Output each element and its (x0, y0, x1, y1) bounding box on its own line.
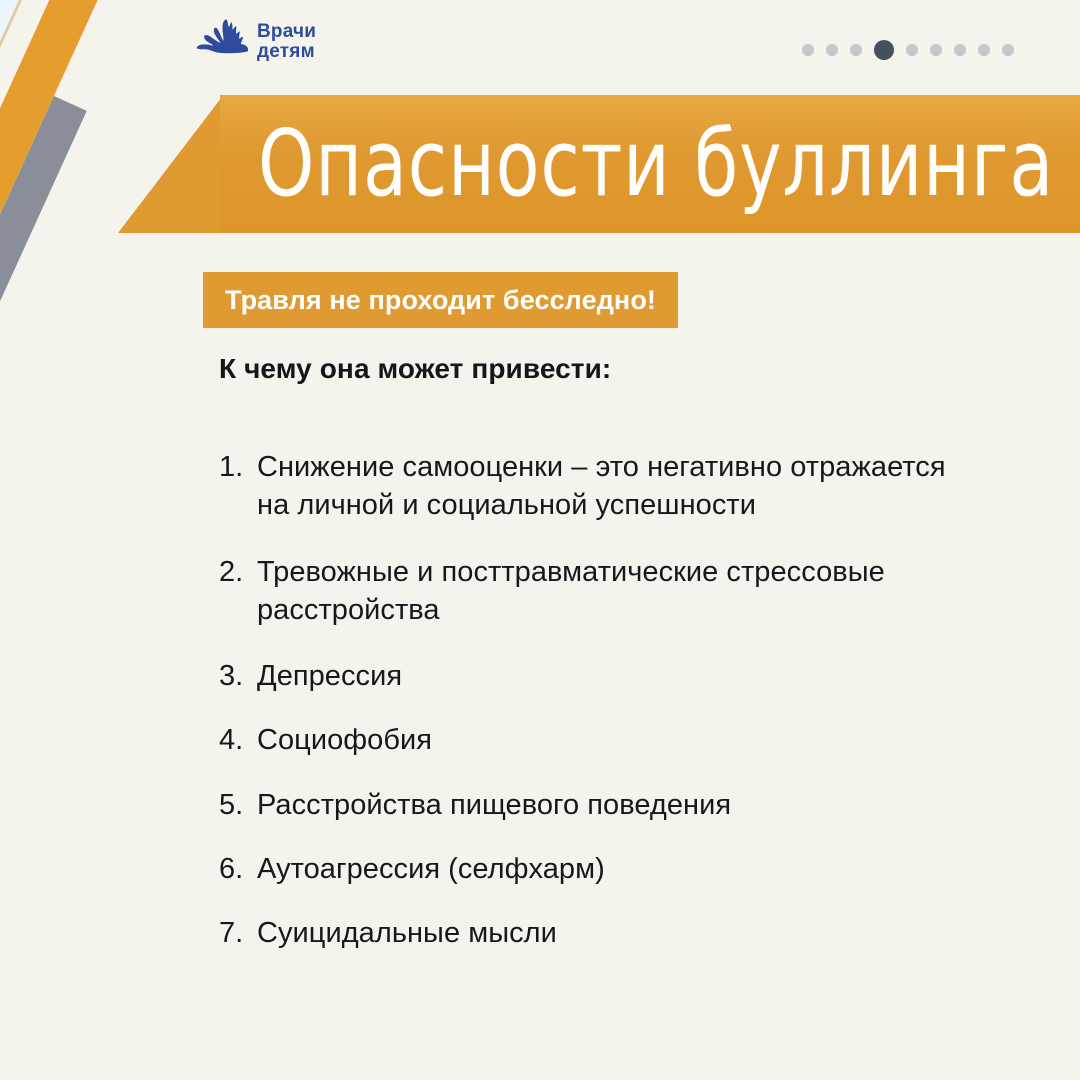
consequences-list: 1. Снижение самооценки – это негативно о… (219, 448, 979, 978)
pagination-dot-3[interactable] (850, 44, 862, 56)
pagination-dot-5[interactable] (906, 44, 918, 56)
list-item: 6. Аутоагрессия (селфхарм) (219, 850, 979, 888)
list-item-text: Депрессия (257, 657, 979, 695)
pagination-dot-2[interactable] (826, 44, 838, 56)
pagination-dot-4-active[interactable] (874, 40, 894, 60)
pagination-dot-1[interactable] (802, 44, 814, 56)
pagination-dot-7[interactable] (954, 44, 966, 56)
list-item-text: Суицидальные мысли (257, 914, 979, 952)
brand-logo: Врачи детям (196, 18, 316, 66)
intro-heading: К чему она может привести: (219, 353, 611, 385)
diagonal-grey-stripe (0, 96, 87, 327)
pagination-dot-6[interactable] (930, 44, 942, 56)
list-item-number: 7. (219, 914, 257, 952)
header: Врачи детям (0, 0, 1080, 92)
subtitle-banner: Травля не проходит бесследно! (203, 272, 678, 328)
list-item: 4. Социофобия (219, 721, 979, 759)
list-item-number: 6. (219, 850, 257, 888)
list-item-text: Расстройства пищевого поведения (257, 786, 979, 824)
list-item-text: Социофобия (257, 721, 979, 759)
list-item: 5. Расстройства пищевого поведения (219, 786, 979, 824)
list-item: 7. Суицидальные мысли (219, 914, 979, 952)
pagination-dot-8[interactable] (978, 44, 990, 56)
hands-holding-child-logo-icon (196, 18, 248, 66)
brand-logo-text: Врачи детям (257, 22, 316, 62)
diagonal-photo-strip (0, 0, 54, 858)
title-banner: Опасности буллинга (220, 95, 1080, 233)
list-item-number: 3. (219, 657, 257, 695)
subtitle-text: Травля не проходит бесследно! (225, 285, 656, 316)
list-item-number: 5. (219, 786, 257, 824)
list-item: 2. Тревожные и посттравматические стресс… (219, 553, 979, 630)
pagination-dots[interactable] (802, 40, 1014, 60)
list-item: 1. Снижение самооценки – это негативно о… (219, 448, 979, 525)
list-item-number: 4. (219, 721, 257, 759)
list-item-number: 1. (219, 448, 257, 486)
list-item-text: Тревожные и посттравматические стрессовы… (257, 553, 979, 630)
brand-logo-line1: Врачи (257, 22, 316, 42)
pagination-dot-9[interactable] (1002, 44, 1014, 56)
list-item-text: Аутоагрессия (селфхарм) (257, 850, 979, 888)
page-title: Опасности буллинга (258, 118, 1054, 210)
brand-logo-line2: детям (257, 42, 316, 62)
slide-canvas: Врачи детям Опасности буллинга Травля не… (0, 0, 1080, 1080)
list-item-text: Снижение самооценки – это негативно отра… (257, 448, 979, 525)
list-item: 3. Депрессия (219, 657, 979, 695)
list-item-number: 2. (219, 553, 257, 591)
